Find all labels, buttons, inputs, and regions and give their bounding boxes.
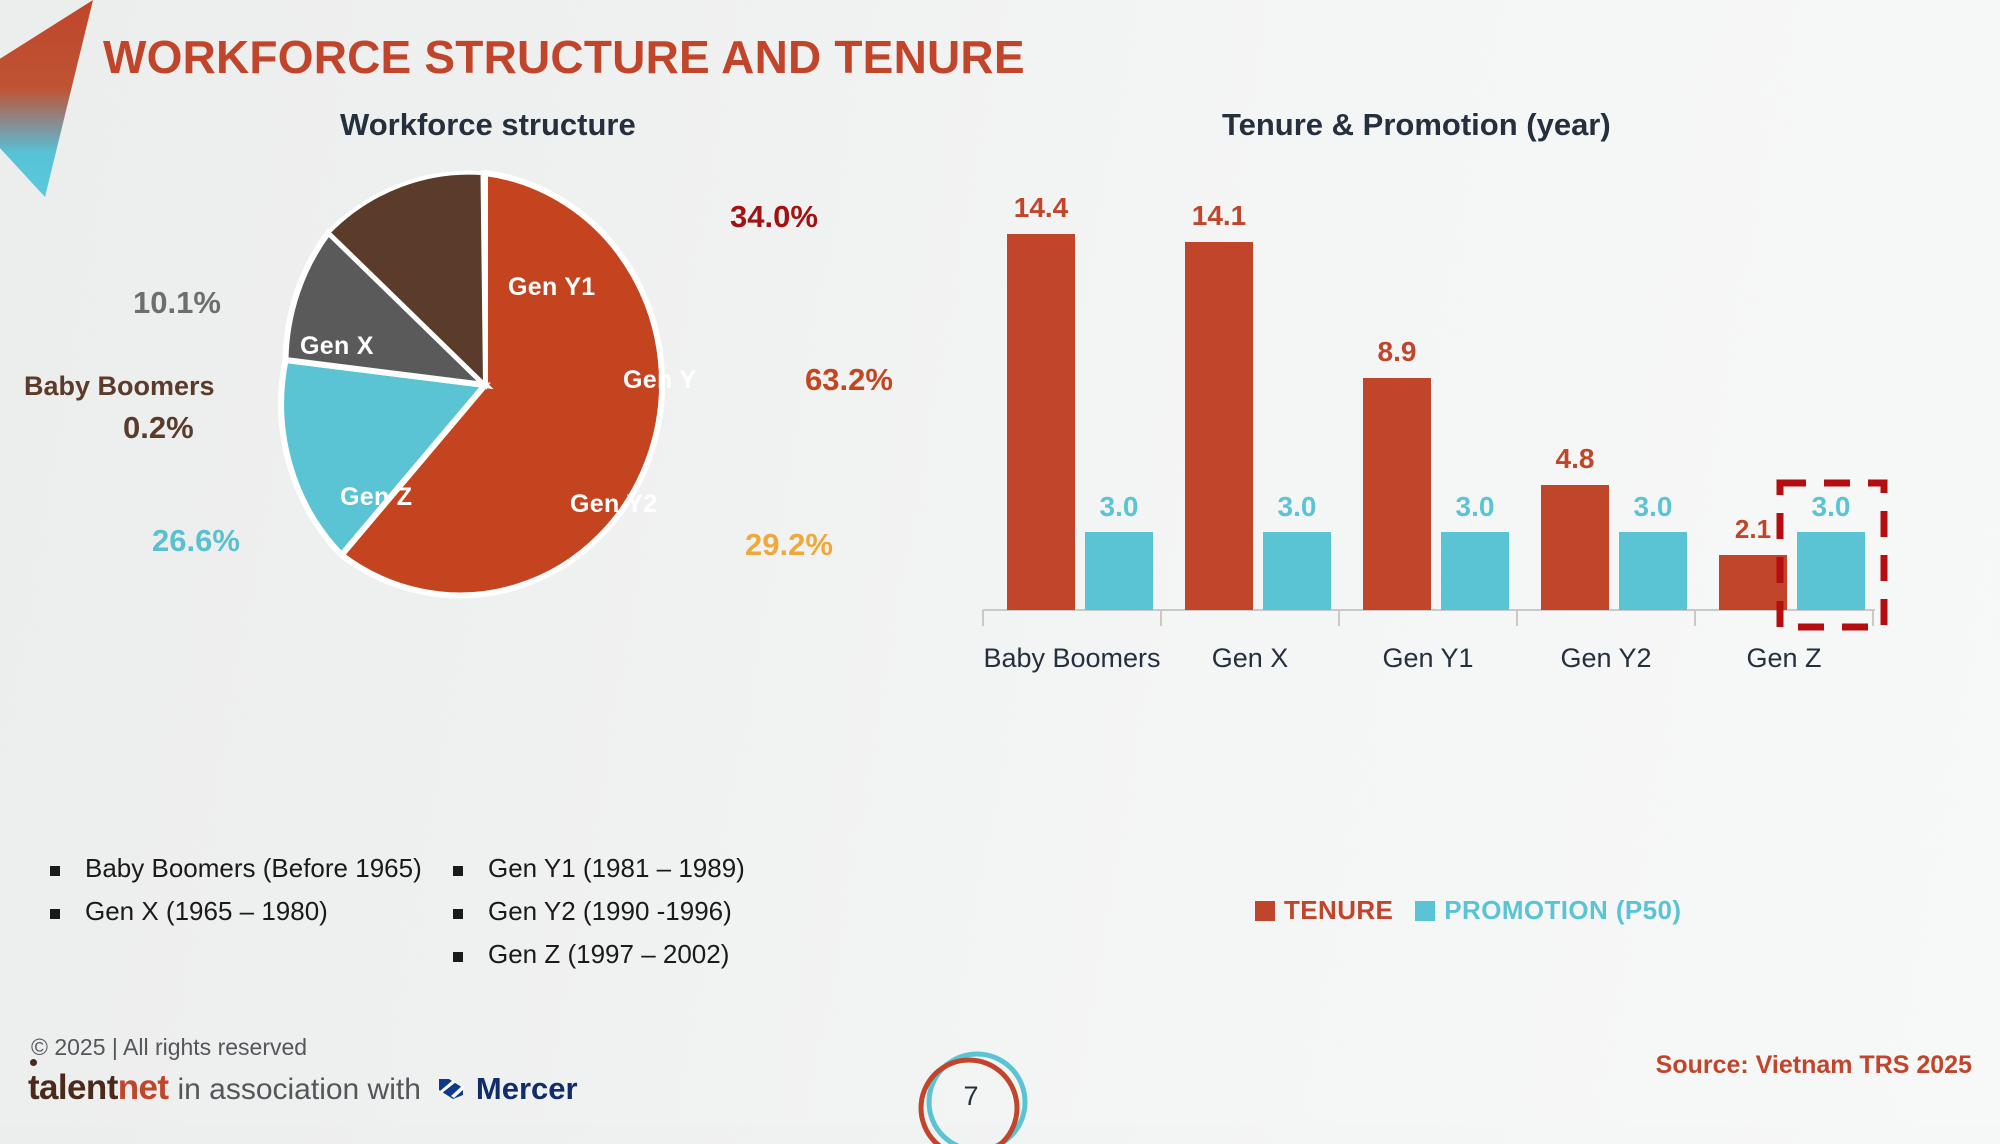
talentnet-logo-net: net — [118, 1068, 169, 1107]
bar-chart-svg: 14.4 14.1 8.9 4.8 2.1 3.0 3.0 3.0 3.0 3.… — [975, 165, 1985, 685]
legend-item-promotion: PROMOTION (P50) — [1415, 895, 1681, 926]
legend-swatch-promotion — [1415, 901, 1435, 921]
bullet-icon — [453, 952, 463, 962]
list-item-label: Gen Y1 (1981 – 1989) — [488, 853, 745, 884]
pie-slice-label-gen-y1: Gen Y1 — [508, 273, 596, 302]
pie-label-baby-boomers: Baby Boomers — [24, 371, 215, 402]
svg-text:Gen Y2: Gen Y2 — [1560, 643, 1651, 673]
legend-item-tenure: TENURE — [1255, 895, 1393, 926]
list-item: Gen Z (1997 – 2002) — [453, 939, 745, 970]
bar-chart-legend: TENURE PROMOTION (P50) — [1255, 895, 1681, 926]
pie-value-gen-y-total: 63.2% — [805, 362, 893, 398]
pie-value-baby-boomers: 0.2% — [123, 410, 194, 446]
page-number: 7 — [913, 1048, 1029, 1144]
list-item: Gen X (1965 – 1980) — [50, 896, 422, 927]
svg-text:14.1: 14.1 — [1192, 200, 1247, 231]
bullet-icon — [453, 866, 463, 876]
list-item-label: Gen Z (1997 – 2002) — [488, 939, 729, 970]
bullet-icon — [453, 909, 463, 919]
svg-text:3.0: 3.0 — [1100, 491, 1139, 522]
svg-text:14.4: 14.4 — [1014, 192, 1069, 223]
svg-text:Baby Boomers: Baby Boomers — [983, 643, 1160, 673]
pie-slice-label-gen-y: Gen Y — [623, 366, 696, 395]
pie-chart-title: Workforce structure — [340, 107, 636, 143]
pie-value-gen-y1: 34.0% — [730, 199, 818, 235]
generation-list-left-column: Baby Boomers (Before 1965) Gen X (1965 –… — [50, 853, 422, 939]
pie-value-gen-x: 10.1% — [133, 285, 221, 321]
legend-swatch-tenure — [1255, 901, 1275, 921]
pie-slice-label-gen-z: Gen Z — [340, 483, 412, 512]
mercer-wordmark: Mercer — [476, 1071, 578, 1107]
association-text: in association with — [177, 1073, 420, 1107]
bullet-icon — [50, 866, 60, 876]
legend-label-promotion: PROMOTION (P50) — [1444, 895, 1681, 926]
svg-text:Gen Y1: Gen Y1 — [1382, 643, 1473, 673]
bullet-icon — [50, 909, 60, 919]
pie-value-gen-z: 26.6% — [152, 523, 240, 559]
list-item-label: Gen X (1965 – 1980) — [85, 896, 328, 927]
svg-text:Gen Z: Gen Z — [1746, 643, 1821, 673]
legend-label-tenure: TENURE — [1284, 895, 1393, 926]
talentnet-logo: talentnet — [28, 1068, 168, 1108]
copyright-text: © 2025 | All rights reserved — [31, 1034, 307, 1061]
list-item: Gen Y2 (1990 -1996) — [453, 896, 745, 927]
svg-text:4.8: 4.8 — [1556, 443, 1595, 474]
list-item: Baby Boomers (Before 1965) — [50, 853, 422, 884]
source-note: Source: Vietnam TRS 2025 — [1656, 1051, 1972, 1080]
list-item-label: Gen Y2 (1990 -1996) — [488, 896, 732, 927]
pie-slice-label-gen-x: Gen X — [300, 332, 374, 361]
talentnet-dot-icon — [30, 1059, 37, 1066]
svg-text:2.1: 2.1 — [1735, 514, 1771, 544]
svg-text:3.0: 3.0 — [1634, 491, 1673, 522]
svg-text:8.9: 8.9 — [1378, 336, 1417, 367]
pie-value-gen-y2: 29.2% — [745, 527, 833, 563]
bar-chart-title: Tenure & Promotion (year) — [1222, 107, 1611, 143]
svg-text:3.0: 3.0 — [1812, 491, 1851, 522]
footer-branding: talentnet in association with Mercer — [28, 1068, 578, 1108]
pie-slice-label-gen-y2: Gen Y2 — [570, 490, 658, 519]
generation-list-right-column: Gen Y1 (1981 – 1989) Gen Y2 (1990 -1996)… — [453, 853, 745, 982]
svg-text:3.0: 3.0 — [1278, 491, 1317, 522]
list-item: Gen Y1 (1981 – 1989) — [453, 853, 745, 884]
talentnet-logo-talent: talent — [28, 1068, 118, 1107]
svg-text:Gen X: Gen X — [1212, 643, 1289, 673]
page-title: WORKFORCE STRUCTURE AND TENURE — [103, 30, 1025, 84]
mercer-logo-icon — [433, 1076, 469, 1107]
list-item-label: Baby Boomers (Before 1965) — [85, 853, 422, 884]
svg-text:3.0: 3.0 — [1456, 491, 1495, 522]
tenure-promotion-bar-chart: 14.4 14.1 8.9 4.8 2.1 3.0 3.0 3.0 3.0 3.… — [975, 165, 1985, 685]
workforce-structure-pie-chart: Gen Y1 Gen Y Gen Y2 Gen Z Gen X 34.0% 63… — [0, 170, 950, 800]
